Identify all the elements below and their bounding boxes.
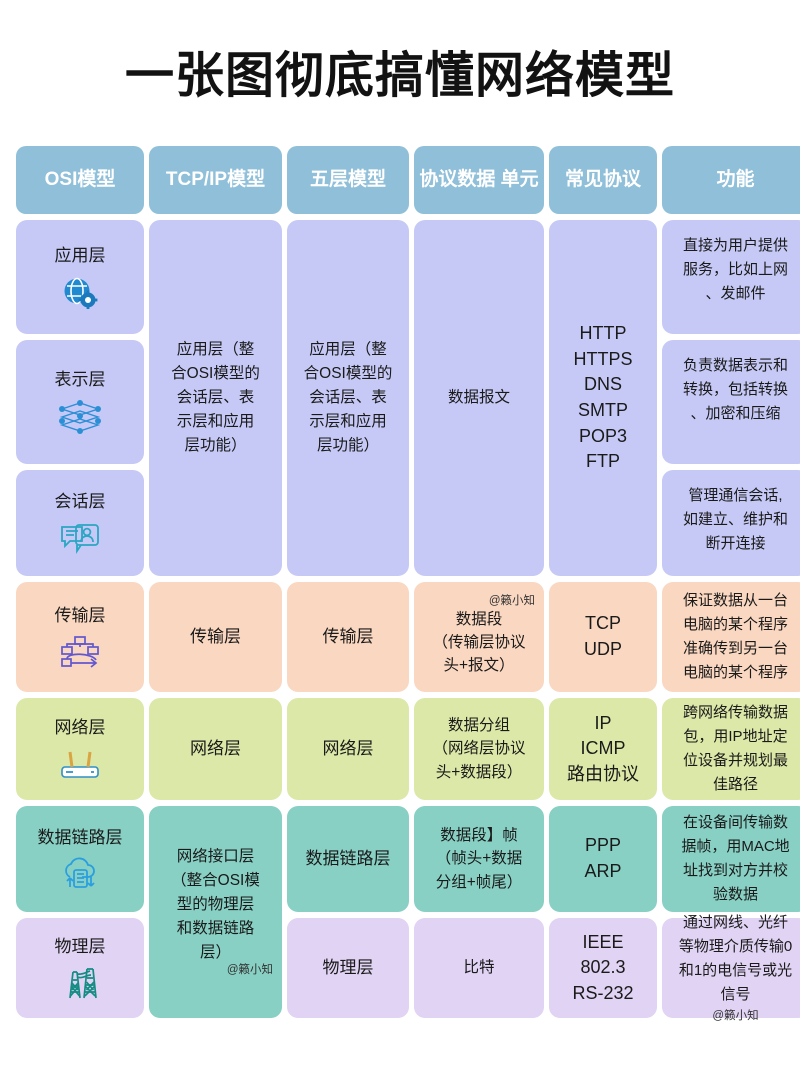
pdu-cell-transport[interactable]: @籁小知 数据段 （传输层协议 头+报文） <box>414 582 544 692</box>
osi-cell-network[interactable]: 网络层 <box>16 698 144 800</box>
header-osi: OSI模型 <box>16 146 144 214</box>
function-cell-network[interactable]: 跨网络传输数据 包，用IP地址定 位设备并规划最 佳路径 <box>662 698 800 800</box>
column-fivelayer: 五层模型 应用层（整 合OSI模型的 会话层、表 示层和应用 层功能） 传输层 … <box>287 146 409 1018</box>
function-cell-presentation[interactable]: 负责数据表示和 转换，包括转换 、加密和压缩 <box>662 340 800 464</box>
osi-label-session: 会话层 <box>55 491 106 513</box>
watermark-function: @籁小知 <box>712 1007 758 1025</box>
osi-cell-application[interactable]: 应用层 <box>16 220 144 334</box>
column-functions: 功能 直接为用户提供 服务，比如上网 、发邮件 负责数据表示和 转换，包括转换 … <box>662 146 800 1018</box>
function-cell-application[interactable]: 直接为用户提供 服务，比如上网 、发邮件 <box>662 220 800 334</box>
transport-flow-icon <box>58 635 102 669</box>
header-functions: 功能 <box>662 146 800 214</box>
function-label-physical: 通过网线、光纤 等物理介质传输0 和1的电信号或光 信号 <box>679 911 792 1007</box>
tcpip-cell-application[interactable]: 应用层（整 合OSI模型的 会话层、表 示层和应用 层功能） <box>149 220 282 576</box>
osi-label-datalink: 数据链路层 <box>38 827 123 849</box>
pdu-cell-network[interactable]: 数据分组 （网络层协议 头+数据段） <box>414 698 544 800</box>
pdu-cell-datalink[interactable]: 数据段】帧 （帧头+数据 分组+帧尾） <box>414 806 544 912</box>
osi-label-physical: 物理层 <box>55 936 106 958</box>
header-fivelayer: 五层模型 <box>287 146 409 214</box>
column-osi: OSI模型 应用层 <box>16 146 144 1018</box>
pdu-label-transport: 数据段 （传输层协议 头+报文） <box>432 608 525 678</box>
osi-cell-transport[interactable]: 传输层 <box>16 582 144 692</box>
model-comparison-table: OSI模型 应用层 <box>16 146 784 1018</box>
osi-cell-presentation[interactable]: 表示层 <box>16 340 144 464</box>
column-protocols: 常见协议 HTTP HTTPS DNS SMTP POP3 FTP TCP UD… <box>549 146 657 1018</box>
header-pdu: 协议数据 单元 <box>414 146 544 214</box>
fivelayer-cell-network[interactable]: 网络层 <box>287 698 409 800</box>
fivelayer-cell-application[interactable]: 应用层（整 合OSI模型的 会话层、表 示层和应用 层功能） <box>287 220 409 576</box>
tcpip-label-network: 网络层 <box>190 738 241 760</box>
function-cell-session[interactable]: 管理通信会话, 如建立、维护和 断开连接 <box>662 470 800 576</box>
tcpip-cell-network[interactable]: 网络层 <box>149 698 282 800</box>
watermark-tcpip: @籁小知 <box>227 965 273 977</box>
fivelayer-cell-datalink[interactable]: 数据链路层 <box>287 806 409 912</box>
tcpip-cell-networkinterface[interactable]: 网络接口层 （整合OSI模 型的物理层 和数据链路 层） @籁小知 <box>149 806 282 1018</box>
tcpip-label-networkinterface: 网络接口层 （整合OSI模 型的物理层 和数据链路 层） <box>171 845 260 965</box>
infographic-page: 一张图彻底搞懂网络模型 OSI模型 应用层 <box>0 0 800 1067</box>
protocols-cell-physical[interactable]: IEEE 802.3 RS-232 <box>549 918 657 1018</box>
function-cell-datalink[interactable]: 在设备间传输数 据帧，用MAC地 址找到对方并校 验数据 <box>662 806 800 912</box>
router-icon <box>57 747 103 781</box>
globe-gear-icon <box>62 275 98 309</box>
network-layers-icon <box>58 399 102 435</box>
protocols-cell-network[interactable]: IP ICMP 路由协议 <box>549 698 657 800</box>
page-title: 一张图彻底搞懂网络模型 <box>0 0 800 110</box>
header-tcpip: TCP/IP模型 <box>149 146 282 214</box>
pdu-cell-physical[interactable]: 比特 <box>414 918 544 1018</box>
protocols-cell-application[interactable]: HTTP HTTPS DNS SMTP POP3 FTP <box>549 220 657 576</box>
protocols-cell-transport[interactable]: TCP UDP <box>549 582 657 692</box>
chat-person-icon <box>59 521 101 555</box>
fivelayer-cell-transport[interactable]: 传输层 <box>287 582 409 692</box>
header-protocols: 常见协议 <box>549 146 657 214</box>
cloud-data-icon <box>58 857 102 891</box>
osi-label-transport: 传输层 <box>55 605 106 627</box>
osi-cell-session[interactable]: 会话层 <box>16 470 144 576</box>
watermark-pdu: @籁小知 <box>489 596 535 608</box>
osi-cell-datalink[interactable]: 数据链路层 <box>16 806 144 912</box>
tcpip-cell-transport[interactable]: 传输层 <box>149 582 282 692</box>
transmission-tower-icon <box>58 966 102 1000</box>
protocols-cell-datalink[interactable]: PPP ARP <box>549 806 657 912</box>
column-pdu: 协议数据 单元 数据报文 @籁小知 数据段 （传输层协议 头+报文） 数据分组 … <box>414 146 544 1018</box>
fivelayer-cell-physical[interactable]: 物理层 <box>287 918 409 1018</box>
function-cell-transport[interactable]: 保证数据从一台 电脑的某个程序 准确传到另一台 电脑的某个程序 <box>662 582 800 692</box>
osi-label-network: 网络层 <box>55 717 106 739</box>
osi-label-application: 应用层 <box>55 245 106 267</box>
function-cell-physical[interactable]: 通过网线、光纤 等物理介质传输0 和1的电信号或光 信号 @籁小知 <box>662 918 800 1018</box>
column-tcpip: TCP/IP模型 应用层（整 合OSI模型的 会话层、表 示层和应用 层功能） … <box>149 146 282 1018</box>
osi-cell-physical[interactable]: 物理层 <box>16 918 144 1018</box>
pdu-cell-application[interactable]: 数据报文 <box>414 220 544 576</box>
osi-label-presentation: 表示层 <box>55 369 106 391</box>
